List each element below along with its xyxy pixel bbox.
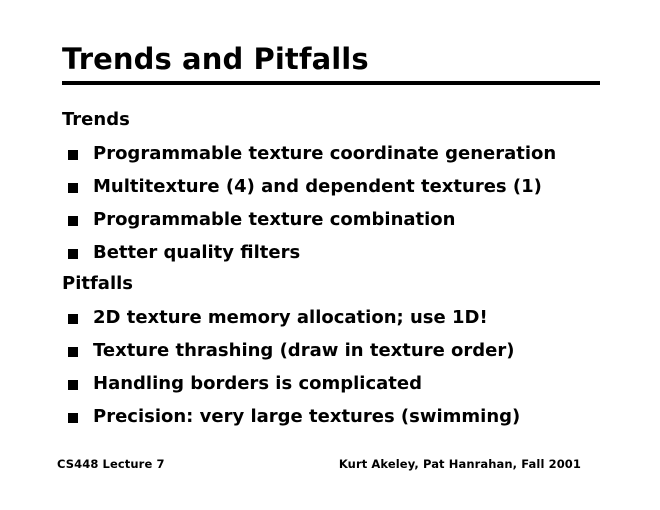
title-underline-rule xyxy=(62,81,600,85)
list-item-label: Precision: very large textures (swimming… xyxy=(93,403,520,431)
list-item-label: Handling borders is complicated xyxy=(93,370,422,398)
list-item: Handling borders is complicated xyxy=(62,370,622,403)
square-bullet-icon xyxy=(68,380,78,390)
square-bullet-icon xyxy=(68,347,78,357)
square-bullet-icon xyxy=(68,314,78,324)
list-item: Texture thrashing (draw in texture order… xyxy=(62,337,622,370)
footer-authors-label: Kurt Akeley, Pat Hanrahan, Fall 2001 xyxy=(339,457,581,471)
list-item: Precision: very large textures (swimming… xyxy=(62,403,622,436)
square-bullet-icon xyxy=(68,413,78,423)
list-item: 2D texture memory allocation; use 1D! xyxy=(62,304,622,337)
list-item: Programmable texture combination xyxy=(62,206,622,239)
footer-course-label: CS448 Lecture 7 xyxy=(57,457,165,471)
square-bullet-icon xyxy=(68,249,78,259)
bullet-list-pitfalls: 2D texture memory allocation; use 1D! Te… xyxy=(62,304,622,436)
list-item: Better quality filters xyxy=(62,239,622,272)
list-item: Programmable texture coordinate generati… xyxy=(62,140,622,173)
list-item: Multitexture (4) and dependent textures … xyxy=(62,173,622,206)
list-item-label: Better quality filters xyxy=(93,239,300,267)
slide-footer: CS448 Lecture 7 Kurt Akeley, Pat Hanraha… xyxy=(57,456,580,472)
slide-title: Trends and Pitfalls xyxy=(62,42,369,76)
list-item-label: Texture thrashing (draw in texture order… xyxy=(93,337,515,365)
square-bullet-icon xyxy=(68,183,78,193)
section-heading-pitfalls: Pitfalls xyxy=(62,273,622,299)
slide-body: Trends Programmable texture coordinate g… xyxy=(62,109,622,436)
bullet-list-trends: Programmable texture coordinate generati… xyxy=(62,140,622,272)
list-item-label: Programmable texture combination xyxy=(93,206,456,234)
square-bullet-icon xyxy=(68,216,78,226)
presentation-slide: Trends and Pitfalls Trends Programmable … xyxy=(0,0,660,510)
list-item-label: Programmable texture coordinate generati… xyxy=(93,140,556,168)
section-heading-trends: Trends xyxy=(62,109,622,135)
square-bullet-icon xyxy=(68,150,78,160)
list-item-label: 2D texture memory allocation; use 1D! xyxy=(93,304,488,332)
list-item-label: Multitexture (4) and dependent textures … xyxy=(93,173,542,201)
